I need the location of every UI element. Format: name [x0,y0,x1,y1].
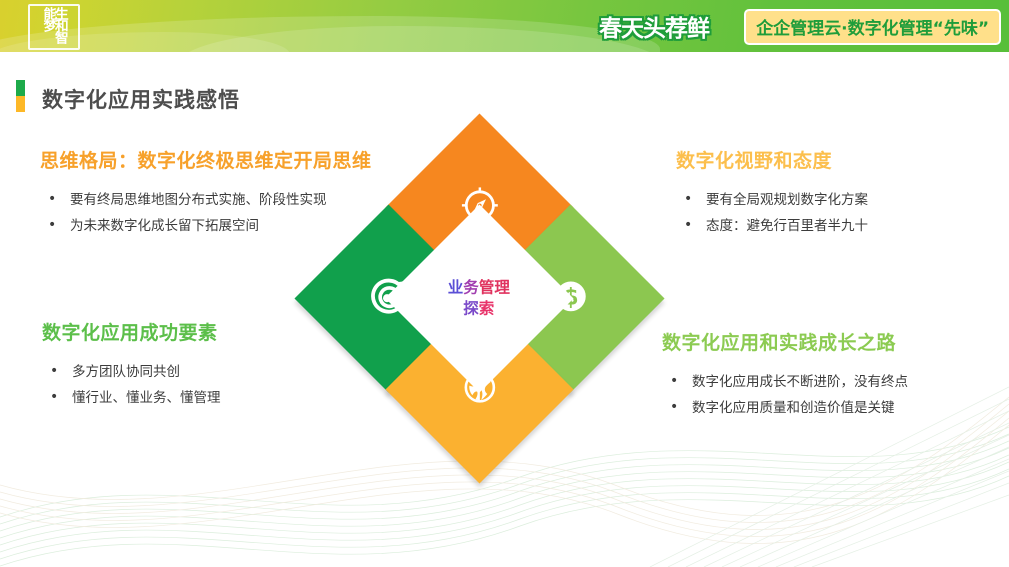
quadrant-top-right-heading: 数字化视野和态度 [676,146,868,173]
quadrant-bottom-left: 数字化应用成功要素 多方团队协同共创 懂行业、懂业务、懂管理 [42,318,221,411]
diamond-diagram: $ 业务管理 探索 [296,148,664,498]
list-item: 数字化应用质量和创造价值是关键 [662,395,908,421]
title-accent-bar [16,80,25,112]
list-item: 懂行业、懂业务、懂管理 [42,385,221,411]
page-header: 生和智能梦 春天头荐鲜 企企管理云·数字化管理“先味” [0,0,1009,52]
quadrant-bottom-right: 数字化应用和实践成长之路 数字化应用成长不断进阶，没有终点 数字化应用质量和创造… [662,328,908,421]
diagram-center-line-2: 探索 [448,298,510,319]
quadrant-bottom-left-bullets: 多方团队协同共创 懂行业、懂业务、懂管理 [42,359,221,411]
list-item: 多方团队协同共创 [42,359,221,385]
diagram-center-text: 业务管理 探索 [448,277,510,319]
quadrant-bottom-right-bullets: 数字化应用成长不断进阶，没有终点 数字化应用质量和创造价值是关键 [662,369,908,421]
title-accent-green [16,80,25,96]
seal-logo: 生和智能梦 [28,4,80,50]
seal-logo-text: 生和智能梦 [30,7,78,47]
page-title: 数字化应用实践感悟 [42,84,240,114]
quadrant-bottom-right-heading: 数字化应用和实践成长之路 [662,328,908,355]
list-item: 态度：避免行百里者半九十 [676,213,868,239]
quadrant-top-right: 数字化视野和态度 要有全局观规划数字化方案 态度：避免行百里者半九十 [676,146,868,239]
quadrant-bottom-left-heading: 数字化应用成功要素 [42,318,221,345]
title-accent-orange [16,96,25,112]
header-divider [0,52,1009,54]
brand-pill-label: 企企管理云·数字化管理“先味” [744,9,1001,45]
quadrant-top-right-bullets: 要有全局观规划数字化方案 态度：避免行百里者半九十 [676,187,868,239]
brand-slogan: 春天头荐鲜 [599,9,709,43]
list-item: 数字化应用成长不断进阶，没有终点 [662,369,908,395]
diagram-center-line-1: 业务管理 [448,277,510,298]
list-item: 要有全局观规划数字化方案 [676,187,868,213]
